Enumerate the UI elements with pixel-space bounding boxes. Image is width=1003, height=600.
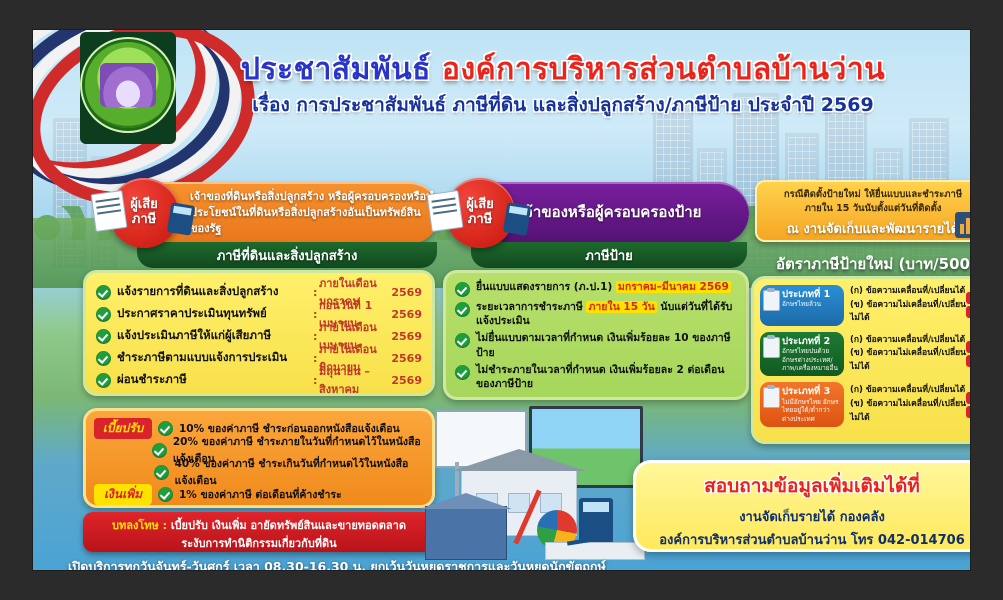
sign-rule-text: ไม่ชำระภายในเวลาที่กำหนด เงินเพิ่มร้อยละ…	[476, 363, 737, 391]
check-icon	[152, 443, 167, 458]
criminal-penalty-bar: บทลงโทษ : เบี้ยปรับ เงินเพิ่ม อายัดทรัพย…	[83, 512, 435, 552]
sign-badge-line2: ภาษี	[468, 213, 492, 228]
rate-description: (ข) ข้อความไม่เคลื่อนที่/เปลี่ยนไม่ได้	[850, 299, 966, 326]
rate-type-cell: ประเภทที่ 3ไม่มีอักษรไทย อักษรไทยอยู่ใต้…	[760, 382, 844, 427]
check-icon	[455, 365, 470, 380]
land-schedule-year: 2569	[391, 308, 422, 321]
rate-description: (ก) ข้อความเคลื่อนที่/เปลี่ยนได้	[850, 334, 966, 348]
monitor-chart-icon	[955, 212, 970, 238]
rate-type-subtitle: อักษรไทยล้วน	[782, 300, 840, 308]
rate-value-cell: 5226	[966, 332, 970, 377]
rate-value-cell: 5250	[966, 382, 970, 427]
land-schedule-label: แจ้งรายการที่ดินและสิ่งปลูกสร้าง	[117, 283, 313, 301]
sign-rule-text: ยื่นแบบแสดงรายการ (ภ.ป.1) มกราคม–มีนาคม …	[476, 280, 731, 294]
service-hours: เปิดบริการทุกวันจันทร์-วันศุกร์ เวลา 08.…	[68, 557, 628, 570]
highlight-text: ภายใน 15 วัน	[586, 301, 656, 313]
clipboard-check-icon	[763, 290, 780, 311]
rate-amount: 5	[966, 306, 970, 318]
sign-taxpayer-badge: ผู้เสีย ภาษี	[445, 178, 515, 248]
check-icon	[455, 333, 470, 348]
rate-description: (ก) ข้อความเคลื่อนที่/เปลี่ยนได้	[850, 384, 966, 398]
rate-type-subtitle: อักษรไทยปนด้วยอักษรต่างประเทศ/ภาพ/เครื่อ…	[782, 347, 840, 372]
notice-line-1: กรณีติดตั้งป้ายใหม่ ให้ยื่นแบบและชำระภาษ…	[765, 188, 970, 202]
rate-type-cell: ประเภทที่ 2อักษรไทยปนด้วยอักษรต่างประเทศ…	[760, 332, 844, 377]
contact-department: งานจัดเก็บรายได้ กองคลัง	[644, 506, 970, 527]
criminal-tag: บทลงโทษ :	[112, 519, 167, 532]
rate-table-row: ประเภทที่ 1อักษรไทยล้วน(ก) ข้อความเคลื่อ…	[760, 285, 970, 326]
criminal-line-2: ระงับการทำนิติกรรมเกี่ยวกับที่ดิน	[91, 534, 427, 552]
document-icon	[91, 190, 128, 232]
check-icon	[96, 329, 111, 344]
sign-rate-table: ประเภทที่ 1อักษรไทยล้วน(ก) ข้อความเคลื่อ…	[751, 276, 970, 444]
land-schedule-year: 2569	[391, 286, 422, 299]
sign-badge-line1: ผู้เสีย	[466, 198, 494, 213]
rate-type-title: ประเภทที่ 3	[782, 386, 840, 397]
poster-frame: ประชาสัมพันธ์ องค์การบริหารส่วนตำบลบ้านว…	[33, 30, 970, 570]
land-schedule-label: ชำระภาษีตามแบบแจ้งการประเมิน	[117, 349, 313, 367]
land-schedule-label: แจ้งประเมินภาษีให้แก่ผู้เสียภาษี	[117, 327, 313, 345]
sign-tax-rules-panel: ยื่นแบบแสดงรายการ (ภ.ป.1) มกราคม–มีนาคม …	[443, 270, 749, 400]
headline-subtitle: เรื่อง การประชาสัมพันธ์ ภาษีที่ดิน และสิ…	[183, 90, 943, 120]
fine-tag: เบี้ยปรับ	[94, 418, 152, 439]
contact-panel: สอบถามข้อมูลเพิ่มเติมได้ที่ งานจัดเก็บรา…	[633, 460, 970, 552]
check-icon	[96, 307, 111, 322]
land-schedule-label: ประกาศราคาประเมินทุนทรัพย์	[117, 305, 313, 323]
land-schedule-value: มิถุนายน – สิงหาคม	[319, 362, 391, 398]
rate-description: (ก) ข้อความเคลื่อนที่/เปลี่ยนได้	[850, 285, 966, 299]
sign-rule-item: ยื่นแบบแสดงรายการ (ภ.ป.1) มกราคม–มีนาคม …	[455, 280, 737, 297]
surcharge-tag: เงินเพิ่ม	[94, 484, 152, 505]
land-schedule-year: 2569	[391, 374, 422, 387]
land-badge-line1: ผู้เสีย	[130, 198, 158, 213]
sign-rule-text: ระยะเวลาการชำระภาษี ภายใน 15 วัน นับแต่ว…	[476, 300, 737, 328]
new-sign-notice-panel: กรณีติดตั้งป้ายใหม่ ให้ยื่นแบบและชำระภาษ…	[755, 180, 970, 242]
rate-type-subtitle: ไม่มีอักษรไทย อักษรไทยอยู่ใต้/ต่ำกว่าต่า…	[782, 398, 840, 423]
rate-amount: 26	[966, 355, 970, 367]
rate-description-cell: (ก) ข้อความเคลื่อนที่/เปลี่ยนได้(ข) ข้อค…	[844, 332, 966, 377]
land-tax-schedule-panel: แจ้งรายการที่ดินและสิ่งปลูกสร้าง:ภายในเด…	[83, 270, 435, 396]
penalty-text: 40% ของค่าภาษี ชำระเกินวันที่กำหนดไว้ในห…	[175, 455, 424, 489]
check-icon	[455, 282, 470, 297]
rate-type-title: ประเภทที่ 1	[782, 289, 840, 300]
calculator-icon	[167, 202, 195, 235]
penalty-row: 40% ของค่าภาษี ชำระเกินวันที่กำหนดไว้ในห…	[94, 461, 424, 483]
check-icon	[158, 421, 173, 436]
penalty-text: 1% ของค่าภาษี ต่อเดือนที่ค้างชำระ	[179, 486, 342, 503]
document-icon	[427, 190, 464, 232]
sign-rule-item: ไม่ยื่นแบบตามเวลาที่กำหนด เงินเพิ่มร้อยล…	[455, 331, 737, 359]
check-icon	[455, 302, 470, 317]
rate-table-row: ประเภทที่ 2อักษรไทยปนด้วยอักษรต่างประเทศ…	[760, 332, 970, 377]
land-schedule-year: 2569	[391, 330, 422, 343]
clipboard-check-icon	[763, 337, 780, 358]
sign-rule-item: ไม่ชำระภายในเวลาที่กำหนด เงินเพิ่มร้อยละ…	[455, 363, 737, 391]
rate-table-row: ประเภทที่ 3ไม่มีอักษรไทย อักษรไทยอยู่ใต้…	[760, 382, 970, 427]
contact-title: สอบถามข้อมูลเพิ่มเติมได้ที่	[644, 471, 970, 501]
notice-emphasis: ณ งานจัดเก็บและพัฒนารายได้	[765, 218, 970, 239]
check-icon	[96, 285, 111, 300]
clipboard-check-icon	[763, 387, 780, 408]
contact-phone: องค์การบริหารส่วนตำบลบ้านว่าน โทร 042-01…	[644, 529, 970, 550]
criminal-line-1: เบี้ยปรับ เงินเพิ่ม อายัดทรัพย์สินและขาย…	[171, 519, 406, 532]
rate-amount: 50	[966, 406, 970, 418]
rate-description: (ข) ข้อความไม่เคลื่อนที่/เปลี่ยนไม่ได้	[850, 398, 966, 425]
check-icon	[158, 487, 173, 502]
headline-organization: องค์การบริหารส่วนตำบลบ้านว่าน	[442, 52, 885, 87]
land-schedule-label: ผ่อนชำระภาษี	[117, 371, 313, 389]
central-illustration	[425, 402, 651, 562]
check-icon	[96, 351, 111, 366]
sign-rule-text: ไม่ยื่นแบบตามเวลาที่กำหนด เงินเพิ่มร้อยล…	[476, 331, 737, 359]
small-house-icon	[425, 506, 507, 560]
organization-logo	[85, 42, 171, 128]
logo-emblem-icon	[100, 63, 156, 107]
land-tax-tab-label: ภาษีที่ดินและสิ่งปลูกสร้าง	[137, 242, 437, 268]
land-taxpayer-badge: ผู้เสีย ภาษี	[109, 178, 179, 248]
rate-description: (ข) ข้อความไม่เคลื่อนที่/เปลี่ยนไม่ได้	[850, 347, 966, 374]
highlight-text: มกราคม–มีนาคม 2569	[616, 281, 731, 293]
notice-line-2: ภายใน 15 วันนับตั้งแต่วันที่ติดตั้ง	[765, 202, 970, 216]
sign-rule-item: ระยะเวลาการชำระภาษี ภายใน 15 วัน นับแต่ว…	[455, 300, 737, 328]
check-icon	[96, 373, 111, 388]
rate-description-cell: (ก) ข้อความเคลื่อนที่/เปลี่ยนได้(ข) ข้อค…	[844, 382, 966, 427]
rate-amount: 10	[966, 292, 970, 304]
calculator-icon	[503, 202, 531, 235]
penalty-tag-spacer	[94, 449, 146, 451]
sign-tax-tab-label: ภาษีป้าย	[471, 242, 747, 268]
rate-value-cell: 105	[966, 285, 970, 326]
rate-type-title: ประเภทที่ 2	[782, 336, 840, 347]
penalties-panel: เบี้ยปรับ10% ของค่าภาษี ชำระก่อนออกหนังส…	[83, 408, 435, 508]
rate-amount: 52	[966, 341, 970, 353]
poster-canvas: ประชาสัมพันธ์ องค์การบริหารส่วนตำบลบ้านว…	[0, 0, 1003, 600]
check-icon	[154, 465, 169, 480]
land-badge-line2: ภาษี	[132, 213, 156, 228]
rate-type-cell: ประเภทที่ 1อักษรไทยล้วน	[760, 285, 844, 326]
penalty-tag-spacer	[94, 471, 148, 473]
rate-description-cell: (ก) ข้อความเคลื่อนที่/เปลี่ยนได้(ข) ข้อค…	[844, 285, 966, 326]
headline-primary: ประชาสัมพันธ์	[241, 52, 431, 87]
land-schedule-row: ผ่อนชำระภาษี:มิถุนายน – สิงหาคม2569	[96, 369, 422, 391]
land-schedule-year: 2569	[391, 352, 422, 365]
page-title: ประชาสัมพันธ์ องค์การบริหารส่วนตำบลบ้านว…	[183, 54, 943, 120]
rate-amount: 52	[966, 392, 970, 404]
